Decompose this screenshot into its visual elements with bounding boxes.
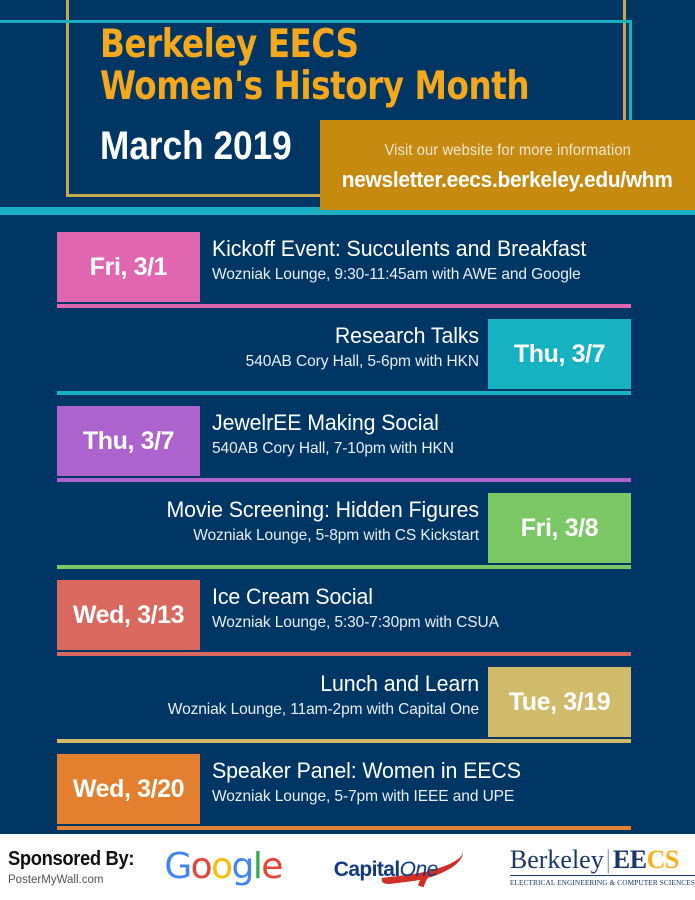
callout-visit-text: Visit our website for more information: [384, 142, 630, 160]
event-title: Movie Screening: Hidden Figures: [86, 497, 479, 522]
event-text-group: JewelrEE Making Social 540AB Cory Hall, …: [212, 410, 617, 458]
event-row: Wed, 3/13 Ice Cream Social Wozniak Loung…: [0, 580, 695, 667]
google-letter-o1: o: [191, 846, 211, 887]
event-date-badge: Thu, 3/7: [57, 406, 200, 476]
event-date-badge: Thu, 3/7: [488, 319, 631, 389]
event-text-group: Movie Screening: Hidden Figures Wozniak …: [74, 497, 479, 545]
event-details: Wozniak Lounge, 5-8pm with CS Kickstart: [86, 527, 479, 545]
event-title: Research Talks: [86, 323, 479, 348]
event-underline: [57, 304, 631, 308]
event-date-badge: Wed, 3/20: [57, 754, 200, 824]
google-letter-e: e: [261, 846, 282, 887]
event-date-badge: Tue, 3/19: [488, 667, 631, 737]
poster-title-line-2: Women's History Month: [100, 68, 593, 106]
event-row: Tue, 3/19 Lunch and Learn Wozniak Lounge…: [0, 667, 695, 754]
event-title: JewelrEE Making Social: [212, 410, 605, 435]
capital-one-wordmark: CapitalOne: [334, 858, 438, 882]
event-underline: [57, 391, 631, 395]
event-title: Kickoff Event: Succulents and Breakfast: [212, 236, 605, 261]
event-row: Thu, 3/7 JewelrEE Making Social 540AB Co…: [0, 406, 695, 493]
postermywall-credit: PosterMyWall.com: [8, 874, 158, 886]
berkeley-eecs-text-ee: EE: [613, 845, 647, 874]
event-title: Ice Cream Social: [212, 584, 605, 609]
google-letter-o2: o: [211, 846, 231, 887]
event-underline: [57, 739, 631, 743]
poster-title-line-1: Berkeley EECS: [100, 26, 593, 64]
berkeley-eecs-divider: |: [604, 845, 613, 874]
sponsor-footer: Sponsored By: PosterMyWall.com Google Ca…: [0, 834, 695, 900]
event-text-group: Speaker Panel: Women in EECS Wozniak Lou…: [212, 758, 617, 806]
event-list: Fri, 3/1 Kickoff Event: Succulents and B…: [0, 232, 695, 841]
event-date-badge: Fri, 3/8: [488, 493, 631, 563]
google-letter-g2: g: [232, 846, 253, 887]
website-callout-box[interactable]: Visit our website for more information n…: [320, 120, 695, 212]
capital-one-logo: CapitalOne: [334, 844, 468, 890]
sponsored-by-label: Sponsored By:: [8, 848, 146, 871]
event-text-group: Research Talks 540AB Cory Hall, 5-6pm wi…: [74, 323, 479, 371]
capital-one-text-capital: Capital: [334, 858, 400, 881]
header-bottom-teal-rule: [0, 210, 695, 215]
event-text-group: Kickoff Event: Succulents and Breakfast …: [212, 236, 617, 284]
event-underline: [57, 652, 631, 656]
event-underline: [57, 565, 631, 569]
event-date-badge: Wed, 3/13: [57, 580, 200, 650]
sponsored-by-block: Sponsored By: PosterMyWall.com: [0, 848, 158, 886]
event-row: Fri, 3/8 Movie Screening: Hidden Figures…: [0, 493, 695, 580]
event-date-badge: Fri, 3/1: [57, 232, 200, 302]
google-letter-g: G: [164, 846, 190, 887]
event-title: Speaker Panel: Women in EECS: [212, 758, 605, 783]
berkeley-eecs-text-berkeley: Berkeley: [510, 845, 604, 874]
capital-one-text-one: One: [400, 858, 438, 881]
google-letter-l: l: [253, 846, 261, 887]
event-details: Wozniak Lounge, 9:30-11:45am with AWE an…: [212, 266, 605, 284]
berkeley-eecs-text-cs: CS: [647, 845, 679, 874]
event-underline: [57, 826, 631, 830]
berkeley-eecs-wordmark: Berkeley|EECS: [510, 847, 695, 873]
event-details: Wozniak Lounge, 11am-2pm with Capital On…: [86, 701, 479, 719]
event-row: Thu, 3/7 Research Talks 540AB Cory Hall,…: [0, 319, 695, 406]
event-details: Wozniak Lounge, 5:30-7:30pm with CSUA: [212, 614, 605, 632]
event-text-group: Lunch and Learn Wozniak Lounge, 11am-2pm…: [74, 671, 479, 719]
callout-url-link[interactable]: newsletter.eecs.berkeley.edu/whm: [342, 167, 673, 193]
event-title: Lunch and Learn: [86, 671, 479, 696]
event-details: 540AB Cory Hall, 5-6pm with HKN: [86, 353, 479, 371]
google-logo: Google: [164, 849, 281, 885]
event-row: Fri, 3/1 Kickoff Event: Succulents and B…: [0, 232, 695, 319]
event-row: Wed, 3/20 Speaker Panel: Women in EECS W…: [0, 754, 695, 841]
berkeley-eecs-logo: Berkeley|EECS ELECTRICAL ENGINEERING & C…: [510, 847, 695, 887]
event-text-group: Ice Cream Social Wozniak Lounge, 5:30-7:…: [212, 584, 617, 632]
poster-root: Berkeley EECS Women's History Month Marc…: [0, 0, 695, 900]
event-underline: [57, 478, 631, 482]
berkeley-eecs-tagline: ELECTRICAL ENGINEERING & COMPUTER SCIENC…: [510, 875, 695, 887]
event-details: Wozniak Lounge, 5-7pm with IEEE and UPE: [212, 788, 605, 806]
poster-header: Berkeley EECS Women's History Month Marc…: [0, 0, 695, 218]
event-details: 540AB Cory Hall, 7-10pm with HKN: [212, 440, 605, 458]
